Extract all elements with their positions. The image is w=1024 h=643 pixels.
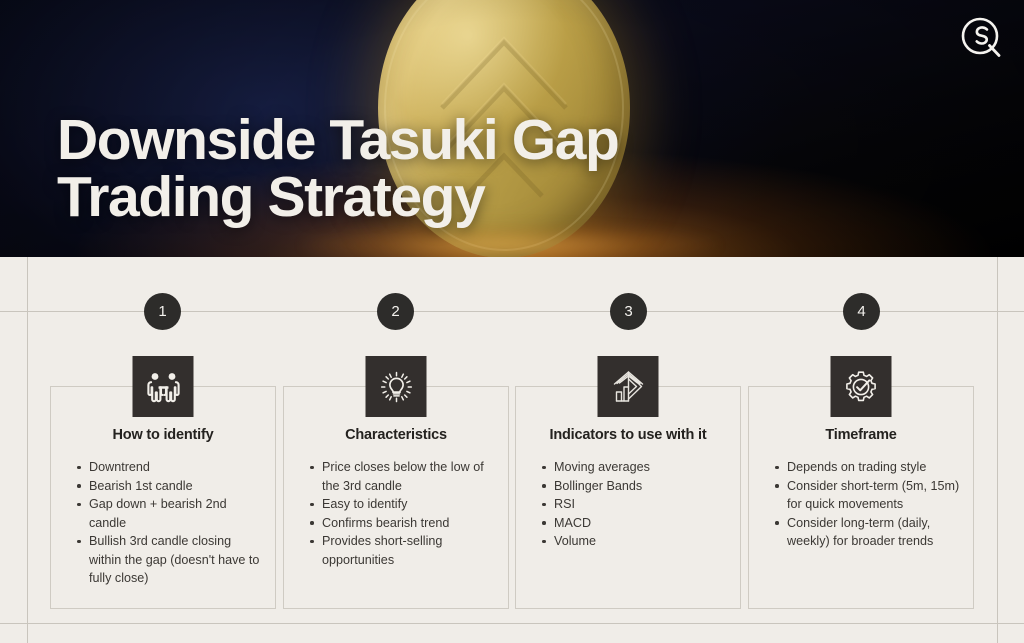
list-item: Bearish 1st candle	[77, 477, 262, 496]
card-characteristics[interactable]: Characteristics Price closes below the l…	[283, 386, 509, 609]
list-item: Easy to identify	[310, 495, 495, 514]
card-title: Indicators to use with it	[516, 427, 740, 443]
guide-line-bottom	[0, 623, 1024, 624]
list-item: RSI	[542, 495, 727, 514]
step-number-1[interactable]: 1	[144, 293, 181, 330]
chart-house-icon	[598, 356, 659, 417]
list-item: Depends on trading style	[775, 458, 960, 477]
guide-line-right	[997, 257, 998, 643]
step-number-label: 4	[857, 303, 865, 320]
card-bullet-list: Price closes below the low of the 3rd ca…	[310, 458, 495, 569]
list-item: Bollinger Bands	[542, 477, 727, 496]
card-bullet-list: Moving averages Bollinger Bands RSI MACD…	[542, 458, 727, 551]
list-item: Gap down + bearish 2nd candle	[77, 495, 262, 532]
page-title: Downside Tasuki Gap Trading Strategy	[57, 112, 618, 226]
sq-monogram-logo[interactable]	[956, 14, 1008, 66]
card-title: Timeframe	[749, 427, 973, 443]
step-number-label: 3	[624, 303, 632, 320]
card-bullet-list: Depends on trading style Consider short-…	[775, 458, 960, 551]
card-bullet-list: Downtrend Bearish 1st candle Gap down + …	[77, 458, 262, 588]
list-item: Volume	[542, 532, 727, 551]
list-item: Bullish 3rd candle closing within the ga…	[77, 532, 262, 588]
hero-banner: Downside Tasuki Gap Trading Strategy	[0, 0, 1024, 257]
infographic-page: Downside Tasuki Gap Trading Strategy 1 2…	[0, 0, 1024, 643]
guide-line-left	[27, 257, 28, 643]
step-number-3[interactable]: 3	[610, 293, 647, 330]
step-number-2[interactable]: 2	[377, 293, 414, 330]
lightbulb-icon	[366, 356, 427, 417]
list-item: MACD	[542, 514, 727, 533]
card-how-to-identify[interactable]: How to identify Downtrend Bearish 1st ca…	[50, 386, 276, 609]
list-item: Downtrend	[77, 458, 262, 477]
step-number-4[interactable]: 4	[843, 293, 880, 330]
gear-check-icon	[831, 356, 892, 417]
card-title: How to identify	[51, 427, 275, 443]
card-timeframe[interactable]: Timeframe Depends on trading style Consi…	[748, 386, 974, 609]
list-item: Consider long-term (daily, weekly) for b…	[775, 514, 960, 551]
list-item: Confirms bearish trend	[310, 514, 495, 533]
coin-glow-shadow	[300, 225, 720, 257]
step-number-label: 1	[158, 303, 166, 320]
card-indicators[interactable]: Indicators to use with it Moving average…	[515, 386, 741, 609]
list-item: Provides short-selling opportunities	[310, 532, 495, 569]
card-title: Characteristics	[284, 427, 508, 443]
step-number-label: 2	[391, 303, 399, 320]
list-item: Moving averages	[542, 458, 727, 477]
list-item: Price closes below the low of the 3rd ca…	[310, 458, 495, 495]
list-item: Consider short-term (5m, 15m) for quick …	[775, 477, 960, 514]
people-at-table-icon	[133, 356, 194, 417]
